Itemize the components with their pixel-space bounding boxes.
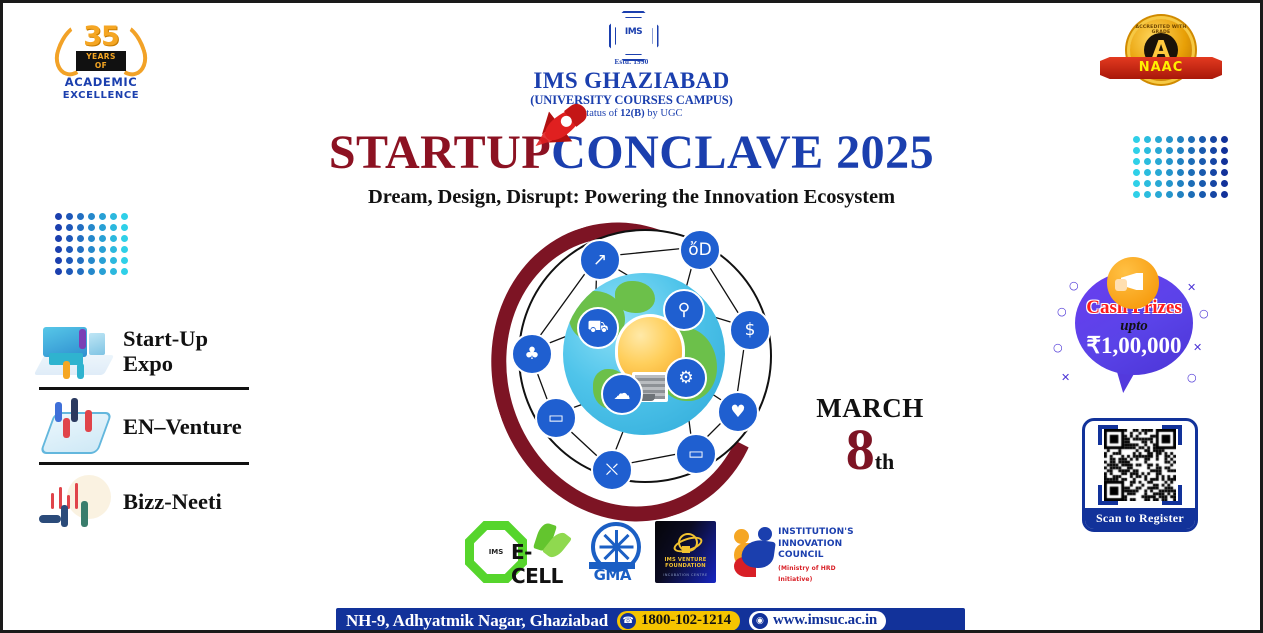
decor-dot (1133, 169, 1140, 176)
ims-status-code: 12(B) (620, 108, 645, 119)
title-part-startup: STARTUP (329, 126, 551, 179)
megaphone-icon (1107, 257, 1159, 309)
decor-dot (88, 235, 95, 242)
bicycle-icon: ⚲ (663, 289, 705, 331)
decor-dot (1210, 180, 1217, 187)
decor-dot (1133, 147, 1140, 154)
decor-dot (1155, 147, 1162, 154)
decor-dot (1166, 191, 1173, 198)
decor-dot (1144, 191, 1151, 198)
decor-dot (1210, 158, 1217, 165)
decor-dot (88, 246, 95, 253)
chat-icon: ▭ (535, 397, 577, 439)
decor-dot (1133, 136, 1140, 143)
decor-dot (66, 257, 73, 264)
decor-dot (121, 257, 128, 264)
cash-prize-callout: ○ ○ ○ ✕ ✕ ○ ✕ ○ Cash Prizes upto ₹1,00,0… (1075, 271, 1200, 396)
decor-dot (99, 224, 106, 231)
decor-dot (99, 246, 106, 253)
event-day-row: 8th (795, 424, 945, 476)
decor-dot (1221, 180, 1228, 187)
decor-dot (77, 246, 84, 253)
decor-dot (121, 246, 128, 253)
cash-prize-amount: ₹1,00,000 (1075, 333, 1193, 359)
decor-dot (1188, 169, 1195, 176)
institution-header: IMS Estd. 1990 IMS GHAZIABAD (UNIVERSITY… (3, 11, 1260, 119)
decor-dot (55, 235, 62, 242)
decor-dot (1221, 191, 1228, 198)
decor-dot (55, 213, 62, 220)
event-item-startup-expo[interactable]: Start-Up Expo (33, 315, 265, 387)
decor-dot (55, 246, 62, 253)
decor-dot (1221, 169, 1228, 176)
event-tagline: Dream, Design, Disrupt: Powering the Inn… (3, 186, 1260, 209)
footer-website-url: www.imsuc.ac.in (773, 612, 877, 629)
decor-dot (99, 213, 106, 220)
decor-dot (1133, 191, 1140, 198)
ims-status: Status of 12(B) by UGC (3, 108, 1260, 119)
event-title-block: STARTUPCONCLAVE 2025 Dream, Design, Disr… (3, 125, 1260, 209)
decor-dot (1210, 136, 1217, 143)
laptop-icon: ▭ (675, 433, 717, 475)
decor-dot (1166, 180, 1173, 187)
event-label-bizz-neeti: Bizz-Neeti (115, 489, 222, 514)
globe-icon: ◉ (752, 613, 768, 629)
chart-icon: ↗ (579, 239, 621, 281)
decor-dot (1199, 180, 1206, 187)
ecell-label: E-CELL (511, 540, 565, 588)
decor-dot (1166, 147, 1173, 154)
decor-dot (1188, 191, 1195, 198)
thumbs-up-icon: ὄD (679, 229, 721, 271)
decor-dot (88, 257, 95, 264)
decor-dot (1210, 191, 1217, 198)
decor-dot (1144, 158, 1151, 165)
decor-dot (1221, 136, 1228, 143)
decor-dot (1188, 180, 1195, 187)
decor-dot (99, 268, 106, 275)
decor-dot (1177, 180, 1184, 187)
car-icon: ⛌ (591, 449, 633, 491)
decor-dot (1144, 147, 1151, 154)
event-date: MARCH 8th (795, 393, 945, 476)
decor-dot (121, 235, 128, 242)
decor-dot (88, 268, 95, 275)
phone-icon: ☎ (620, 613, 636, 629)
decor-dot (55, 257, 62, 264)
decor-dot (121, 268, 128, 275)
decor-dot (110, 268, 117, 275)
decor-dot (66, 268, 73, 275)
iic-label: INSTITUTION'S INNOVATION COUNCIL (Minist… (778, 527, 854, 586)
gear-icon: ⚙ (665, 357, 707, 399)
register-qr-card[interactable]: Scan to Register (1082, 418, 1198, 532)
decor-dot (110, 213, 117, 220)
shopping-cart-icon: ⛟ (577, 307, 619, 349)
event-label-line2: Expo (123, 351, 173, 376)
partner-logo-ims-venture-foundation: IMS VENTURE FOUNDATION INCUBATION CENTRE (655, 521, 716, 583)
decor-dot (66, 224, 73, 231)
decor-dot (77, 213, 84, 220)
event-day: 8 (846, 424, 875, 476)
footer-phone[interactable]: ☎ 1800-102-1214 (617, 611, 740, 631)
event-item-bizz-neeti[interactable]: Bizz-Neeti (33, 465, 265, 537)
event-day-suffix: th (875, 449, 895, 475)
decor-dot (1210, 147, 1217, 154)
contact-footer: NH-9, Adhyatmik Nagar, Ghaziabad ☎ 1800-… (336, 608, 965, 633)
decor-dot (110, 235, 117, 242)
decor-dot (55, 268, 62, 275)
decor-dot (1199, 169, 1206, 176)
decor-dot (1221, 147, 1228, 154)
gma-label: GMA (589, 566, 635, 584)
partner-logo-innovation-council: INSTITUTION'S INNOVATION COUNCIL (Minist… (732, 523, 825, 581)
qr-code-icon[interactable] (1104, 429, 1176, 501)
decor-dot (1188, 136, 1195, 143)
decor-dot (1221, 158, 1228, 165)
decor-dot (88, 213, 95, 220)
decor-dot (1144, 136, 1151, 143)
partner-logos: IMS E-CELL GMA IMS VENTURE FOUNDATION IN… (465, 516, 825, 588)
decor-dot (1199, 158, 1206, 165)
ims-crest-monogram: IMS (611, 27, 657, 37)
decor-dot (1199, 136, 1206, 143)
events-list: Start-Up Expo EN–Venture (33, 315, 265, 537)
decor-dot (77, 257, 84, 264)
decor-dot (110, 224, 117, 231)
poster-canvas: 35 YEARS OF ACADEMIC EXCELLENCE ACCREDIT… (0, 0, 1263, 633)
ecell-crest-label: IMS (489, 548, 504, 556)
bizz-neeti-illustration-icon (33, 471, 115, 531)
iic-line1: INSTITUTION'S (778, 527, 854, 539)
decor-dot (110, 257, 117, 264)
decor-dot (1166, 158, 1173, 165)
dot-grid-left (55, 213, 128, 275)
decor-dot (121, 224, 128, 231)
partner-logo-gma: GMA (581, 521, 639, 583)
footer-website[interactable]: ◉ www.imsuc.ac.in (749, 611, 886, 631)
decor-dot (1177, 191, 1184, 198)
heart-icon: ♥ (717, 391, 759, 433)
ivf-label: IMS VENTURE FOUNDATION (655, 557, 716, 569)
event-label-line1: Start-Up (123, 326, 208, 351)
dot-grid-right (1133, 136, 1228, 198)
ims-name: IMS GHAZIABAD (3, 68, 1260, 94)
decor-dot (77, 235, 84, 242)
hero-illustration: ↗ὄD⚲$♥▭⛌▭♣⛟☁⚙ (493, 221, 785, 513)
event-label-en-venture: EN–Venture (115, 414, 242, 439)
decor-dot (1155, 180, 1162, 187)
decor-dot (1144, 169, 1151, 176)
ims-status-suffix: by UGC (645, 108, 683, 119)
decor-dot (99, 235, 106, 242)
decor-dot (1177, 158, 1184, 165)
decor-dot (1177, 136, 1184, 143)
decor-dot (1155, 169, 1162, 176)
footer-address: NH-9, Adhyatmik Nagar, Ghaziabad (346, 611, 608, 631)
decor-dot (121, 213, 128, 220)
qr-label: Scan to Register (1085, 508, 1195, 529)
cloud-icon: ☁ (601, 373, 643, 415)
decor-dot (77, 224, 84, 231)
iic-line2: INNOVATION (778, 539, 854, 551)
title-part-conclave: CONCLAVE 2025 (551, 126, 934, 179)
ims-campus: (UNIVERSITY COURSES CAMPUS) (3, 93, 1260, 108)
ivf-sublabel: INCUBATION CENTRE (655, 573, 716, 577)
decor-dot (1166, 169, 1173, 176)
ims-crest-icon: IMS (609, 11, 655, 57)
decor-dot (1199, 191, 1206, 198)
decor-dot (66, 235, 73, 242)
decor-dot (1144, 180, 1151, 187)
iic-symbol-icon (732, 527, 776, 577)
footer-phone-number: 1800-102-1214 (641, 612, 731, 629)
event-title: STARTUPCONCLAVE 2025 (329, 125, 934, 180)
decor-dot (99, 257, 106, 264)
startup-expo-illustration-icon (33, 321, 115, 381)
decor-dot (110, 246, 117, 253)
decor-dot (1210, 169, 1217, 176)
bulb-icon (676, 533, 696, 555)
decor-dot (66, 213, 73, 220)
decor-dot (1155, 191, 1162, 198)
decor-dot (1155, 136, 1162, 143)
decor-dot (1155, 158, 1162, 165)
partner-logo-ecell: IMS E-CELL (465, 521, 565, 583)
decor-dot (1188, 147, 1195, 154)
decor-dot (88, 224, 95, 231)
decor-dot (1188, 158, 1195, 165)
decor-dot (1166, 136, 1173, 143)
event-label-startup-expo: Start-Up Expo (115, 326, 208, 376)
decor-dot (1177, 147, 1184, 154)
decor-dot (1133, 180, 1140, 187)
money-bag-icon: $ (729, 309, 771, 351)
decor-dot (1133, 158, 1140, 165)
decor-dot (66, 246, 73, 253)
iic-line3: COUNCIL (778, 550, 854, 562)
tree-icon: ♣ (511, 333, 553, 375)
decor-dot (1177, 169, 1184, 176)
decor-dot (1199, 147, 1206, 154)
en-venture-illustration-icon (33, 396, 115, 456)
decor-dot (55, 224, 62, 231)
event-item-en-venture[interactable]: EN–Venture (33, 390, 265, 462)
iic-ministry-note: (Ministry of HRD Initiative) (778, 563, 854, 586)
decor-dot (77, 268, 84, 275)
